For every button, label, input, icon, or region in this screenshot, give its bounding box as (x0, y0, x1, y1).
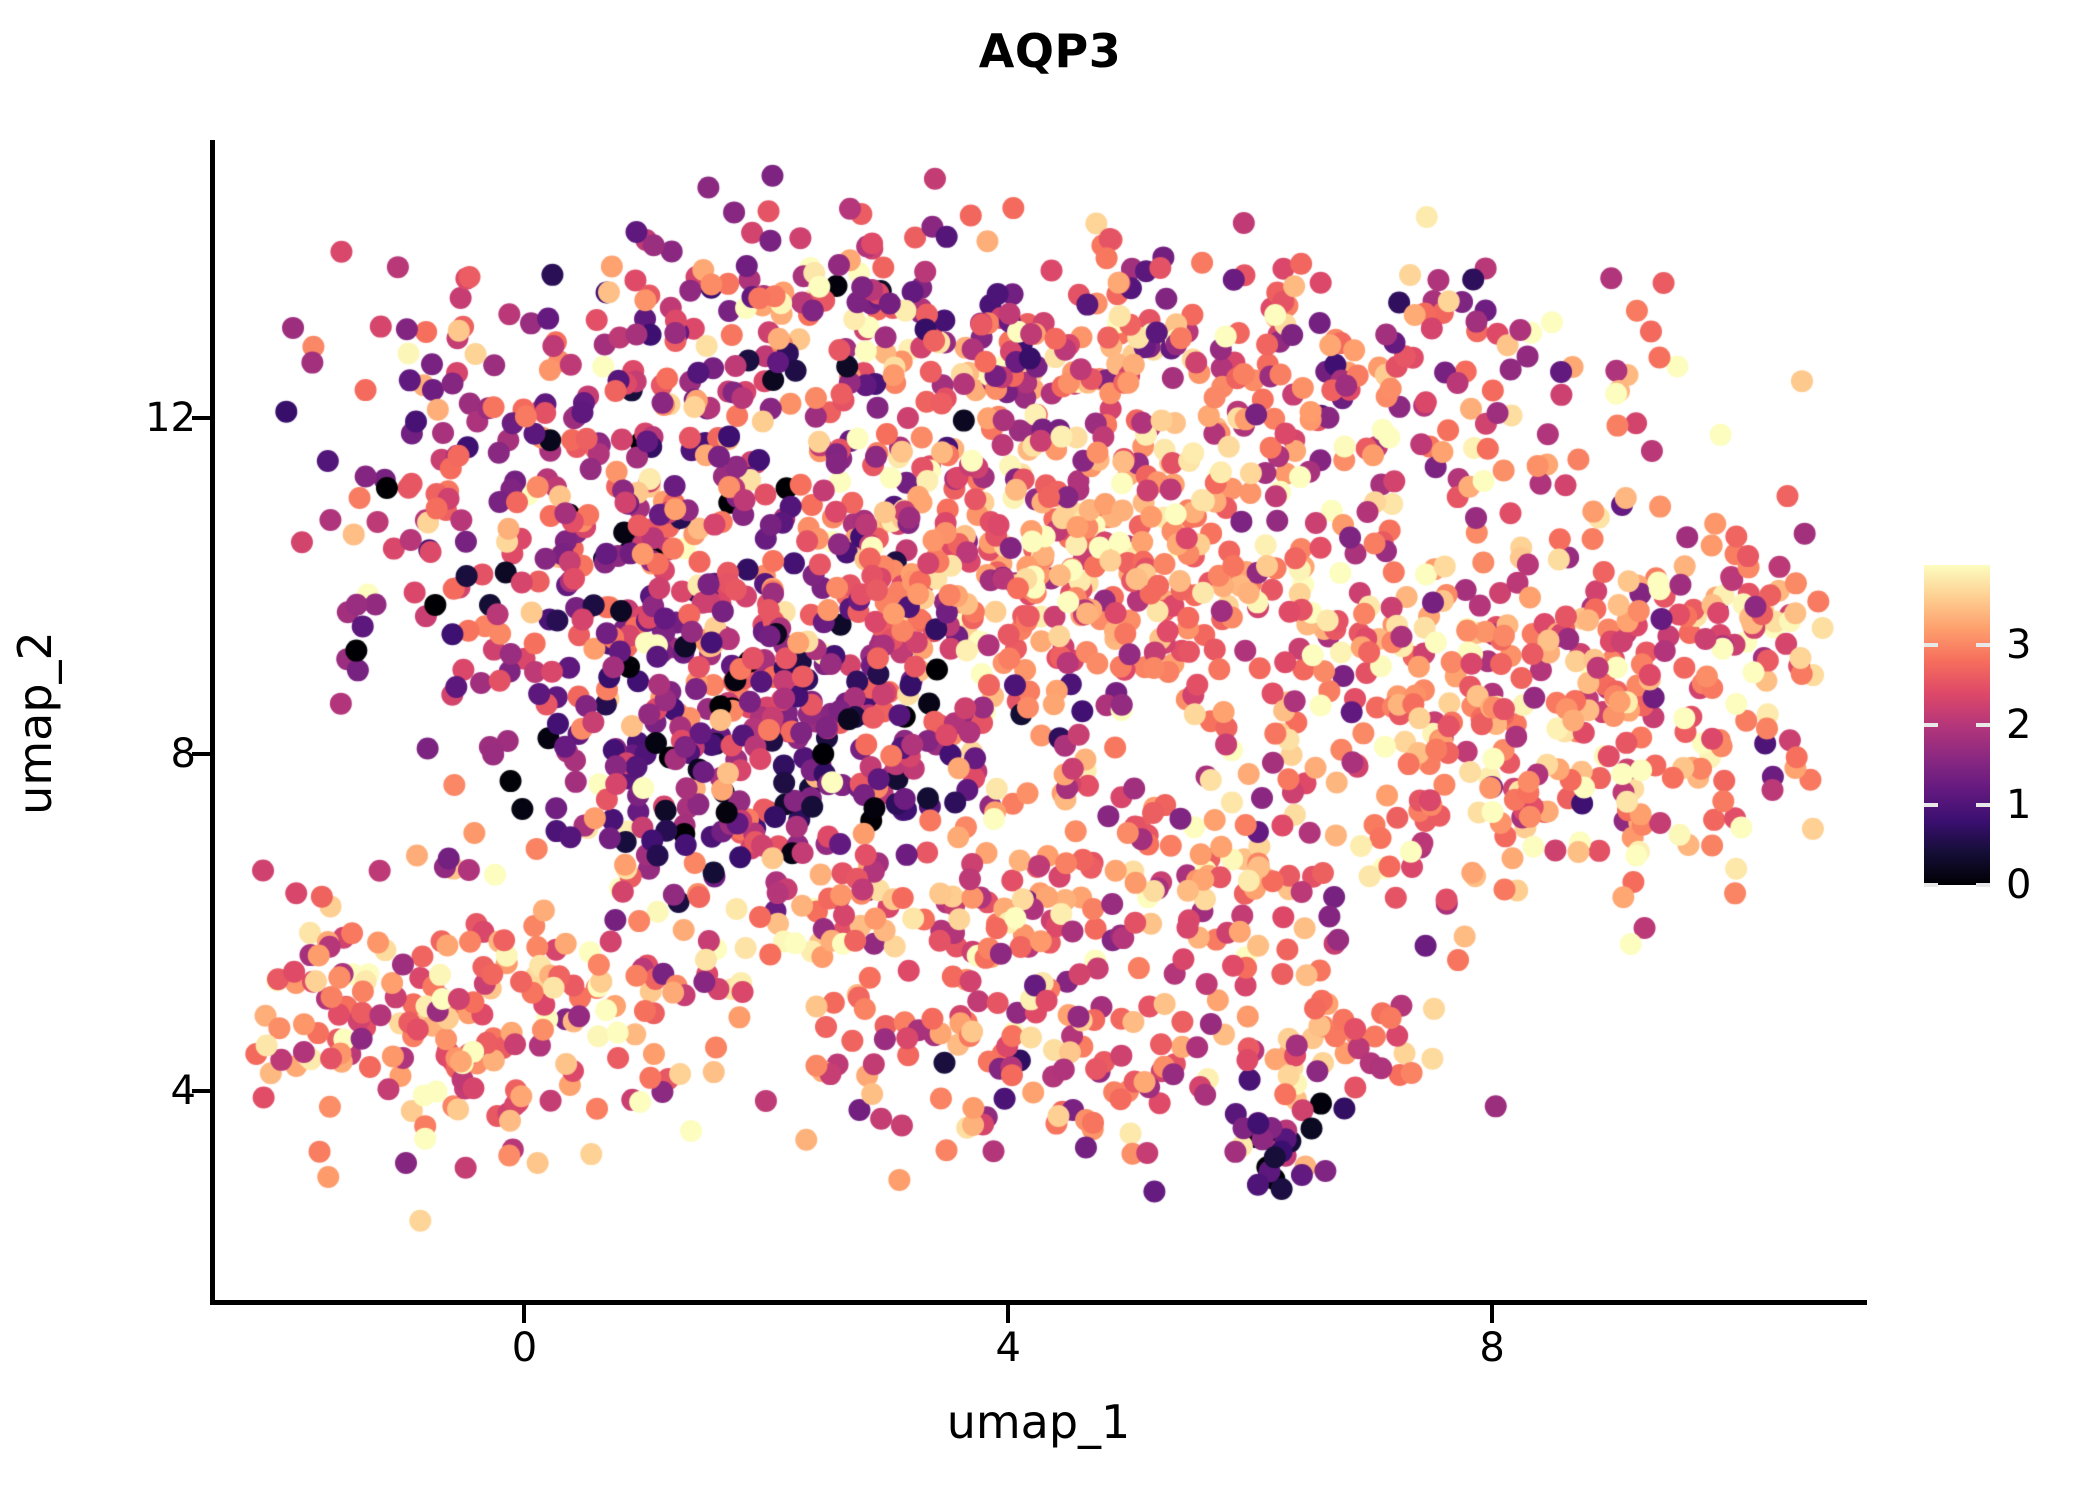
page-title: AQP3 (0, 24, 2100, 78)
x-tick-label: 4 (996, 1325, 1021, 1371)
x-tick-label: 8 (1479, 1325, 1504, 1371)
colorbar-tick-label: 2 (2006, 702, 2031, 748)
y-tick-label: 12 (145, 395, 196, 441)
y-tick-label: 8 (171, 731, 196, 777)
x-axis-label: umap_1 (210, 1395, 1867, 1449)
colorbar-gradient (1924, 565, 1990, 885)
axis-spine-left (210, 140, 215, 1305)
colorbar: 0123 (1924, 565, 2084, 885)
x-tick-mark (1490, 1305, 1494, 1323)
colorbar-tick-label: 0 (2006, 862, 2031, 908)
x-tick-mark (1006, 1305, 1010, 1323)
axis-spine-bottom (210, 1300, 1867, 1305)
colorbar-tick-label: 1 (2006, 782, 2031, 828)
colorbar-tick-label: 3 (2006, 622, 2031, 668)
y-axis-label: umap_2 (0, 140, 70, 1305)
plot-axes: 4812 048 (210, 140, 1867, 1305)
x-tick-label: 0 (512, 1325, 537, 1371)
scatter-plot-canvas (210, 140, 1867, 1305)
y-axis-label-text: umap_2 (8, 631, 62, 815)
x-tick-mark (522, 1305, 526, 1323)
umap-feature-plot: AQP3 umap_2 4812 048 umap_1 0123 (0, 0, 2100, 1500)
y-tick-label: 4 (171, 1068, 196, 1114)
